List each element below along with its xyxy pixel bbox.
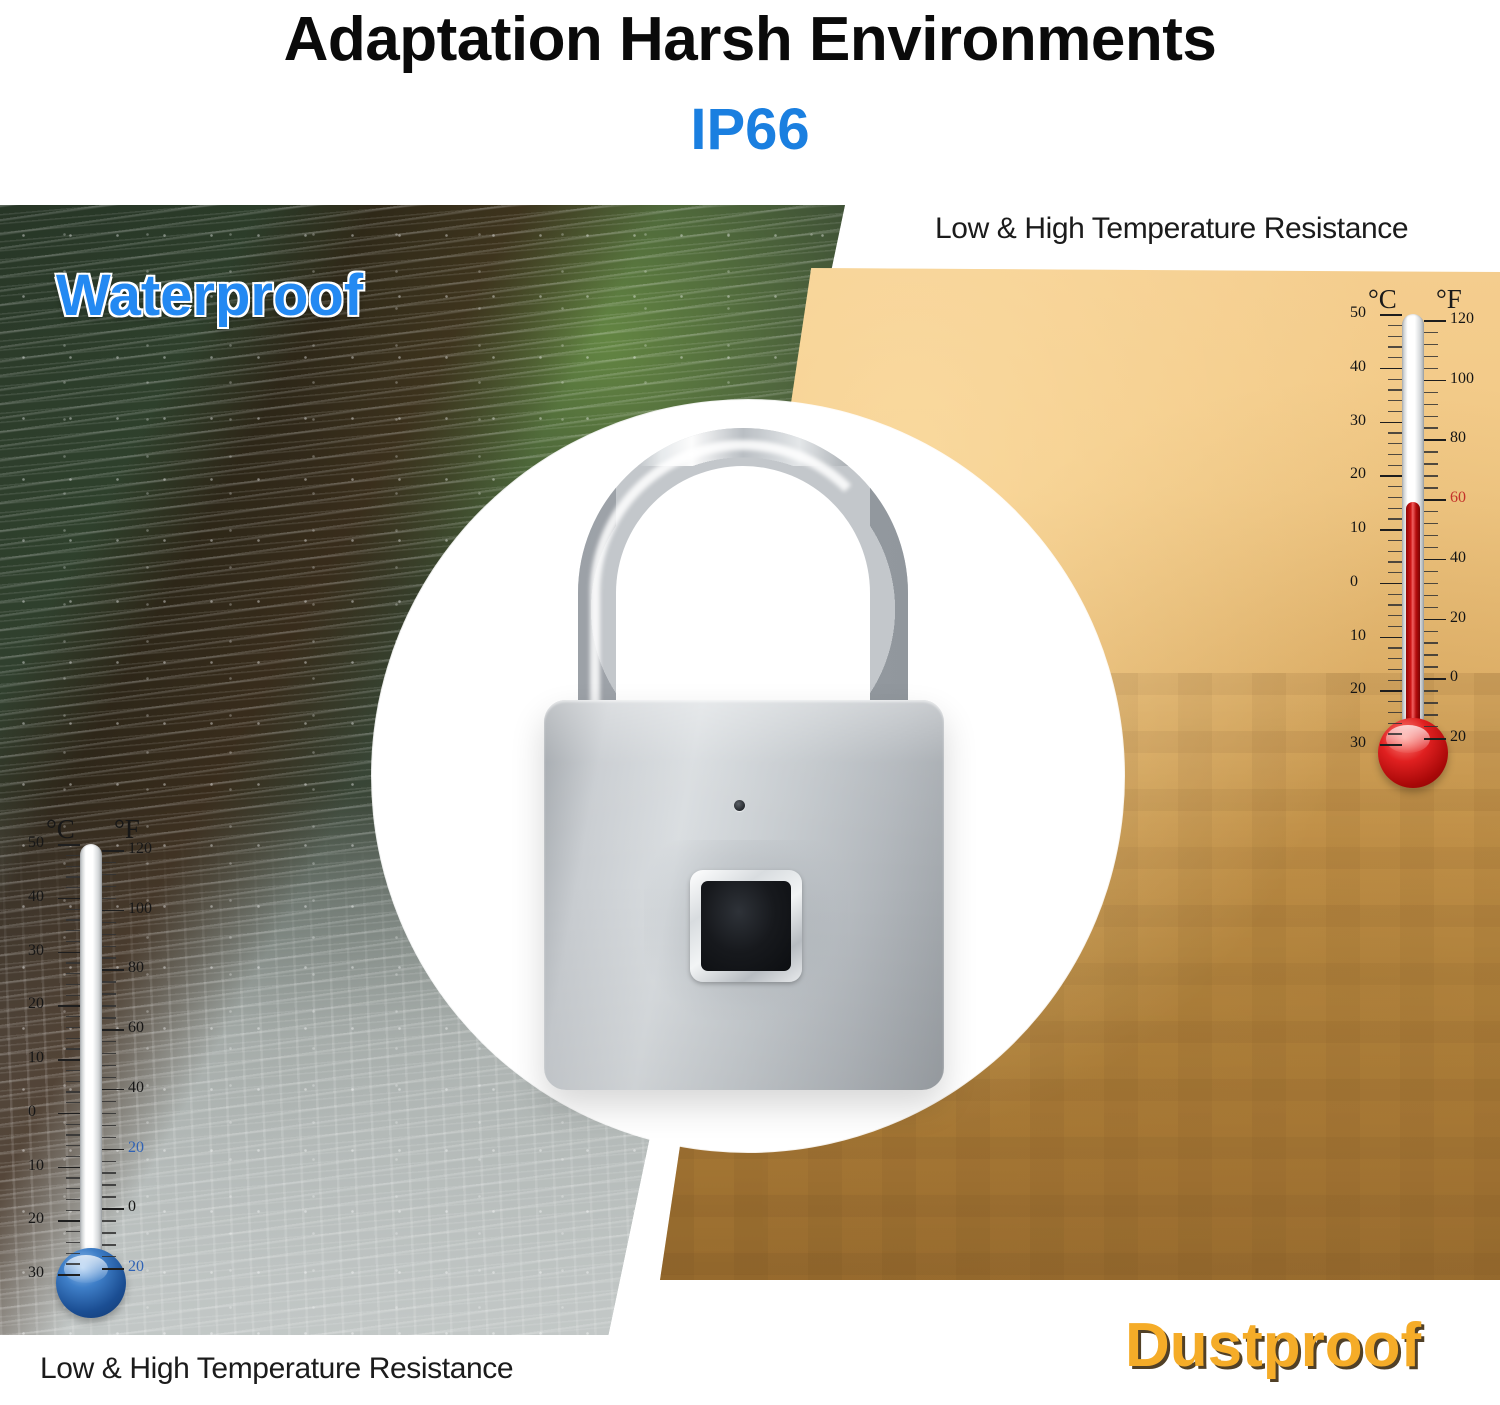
fahrenheit-tick-label: 40 <box>1450 549 1466 567</box>
celsius-tick-label: 10 <box>28 1157 44 1175</box>
celsius-minor-tick <box>1388 572 1402 573</box>
fahrenheit-minor-tick <box>1424 595 1438 596</box>
fahrenheit-major-tick <box>1424 499 1446 501</box>
celsius-tick-label: 20 <box>28 1210 44 1228</box>
celsius-minor-tick <box>1388 518 1402 519</box>
fahrenheit-major-tick <box>102 1149 124 1151</box>
fahrenheit-major-tick <box>1424 380 1446 382</box>
celsius-minor-tick <box>1388 647 1402 648</box>
celsius-minor-tick <box>1388 497 1402 498</box>
celsius-minor-tick <box>66 1188 80 1189</box>
celsius-tick-label: 10 <box>28 1049 44 1067</box>
fahrenheit-minor-tick <box>1424 666 1438 667</box>
fahrenheit-minor-tick <box>1424 535 1438 536</box>
celsius-minor-tick <box>1388 432 1402 433</box>
celsius-minor-tick <box>66 1177 80 1178</box>
fahrenheit-major-tick <box>1424 439 1446 441</box>
celsius-minor-tick <box>1388 346 1402 347</box>
fahrenheit-major-tick <box>102 1268 124 1270</box>
fahrenheit-minor-tick <box>102 898 116 899</box>
fahrenheit-minor-tick <box>1424 631 1438 632</box>
fahrenheit-major-tick <box>102 1029 124 1031</box>
fahrenheit-minor-tick <box>1424 356 1438 357</box>
celsius-major-tick <box>58 1005 80 1007</box>
celsius-minor-tick <box>66 1231 80 1232</box>
fahrenheit-minor-tick <box>1424 571 1438 572</box>
fahrenheit-minor-tick <box>102 1041 116 1042</box>
fahrenheit-minor-tick <box>102 1053 116 1054</box>
celsius-minor-tick <box>66 1102 80 1103</box>
thermometer-tube <box>80 844 102 1274</box>
fingerprint-padlock <box>372 400 1124 1160</box>
celsius-minor-tick <box>1388 626 1402 627</box>
celsius-minor-tick <box>1388 733 1402 734</box>
fahrenheit-minor-tick <box>1424 427 1438 428</box>
celsius-minor-tick <box>1388 615 1402 616</box>
fahrenheit-minor-tick <box>102 1172 116 1173</box>
fahrenheit-minor-tick <box>1424 392 1438 393</box>
celsius-minor-tick <box>66 995 80 996</box>
celsius-major-tick <box>58 1167 80 1169</box>
thermometer-bulb <box>56 1248 126 1318</box>
fahrenheit-minor-tick <box>102 1005 116 1006</box>
fahrenheit-minor-tick <box>102 1184 116 1185</box>
fahrenheit-minor-tick <box>1424 332 1438 333</box>
celsius-minor-tick <box>66 984 80 985</box>
celsius-tick-label: 50 <box>28 834 44 852</box>
fahrenheit-minor-tick <box>1424 714 1438 715</box>
fahrenheit-minor-tick <box>1424 642 1438 643</box>
header: Adaptation Harsh Environments IP66 <box>0 0 1500 200</box>
celsius-minor-tick <box>66 1156 80 1157</box>
celsius-minor-tick <box>66 1210 80 1211</box>
celsius-major-tick <box>58 898 80 900</box>
celsius-major-tick <box>1380 422 1402 424</box>
celsius-major-tick <box>1380 744 1402 746</box>
fahrenheit-minor-tick <box>1424 368 1438 369</box>
fahrenheit-minor-tick <box>1424 404 1438 405</box>
celsius-tick-label: 10 <box>1350 519 1366 537</box>
fahrenheit-tick-label: 0 <box>128 1198 136 1216</box>
fahrenheit-minor-tick <box>1424 523 1438 524</box>
fahrenheit-minor-tick <box>1424 654 1438 655</box>
fahrenheit-minor-tick <box>102 1077 116 1078</box>
celsius-minor-tick <box>66 1081 80 1082</box>
celsius-major-tick <box>1380 475 1402 477</box>
fahrenheit-minor-tick <box>102 886 116 887</box>
fahrenheit-tick-label: 100 <box>1450 370 1474 388</box>
fahrenheit-minor-tick <box>102 862 116 863</box>
celsius-minor-tick <box>66 930 80 931</box>
fahrenheit-minor-tick <box>1424 726 1438 727</box>
celsius-minor-tick <box>1388 400 1402 401</box>
celsius-minor-tick <box>1388 357 1402 358</box>
fahrenheit-minor-tick <box>1424 702 1438 703</box>
celsius-minor-tick <box>1388 551 1402 552</box>
celsius-tick-label: 30 <box>1350 412 1366 430</box>
celsius-minor-tick <box>1388 723 1402 724</box>
celsius-minor-tick <box>1388 379 1402 380</box>
celsius-minor-tick <box>1388 669 1402 670</box>
celsius-minor-tick <box>66 1145 80 1146</box>
thermometer-bulb <box>1378 718 1448 788</box>
celsius-minor-tick <box>66 1070 80 1071</box>
celsius-minor-tick <box>1388 680 1402 681</box>
celsius-tick-label: 0 <box>28 1103 36 1121</box>
celsius-minor-tick <box>1388 540 1402 541</box>
fahrenheit-minor-tick <box>102 1161 116 1162</box>
celsius-minor-tick <box>66 855 80 856</box>
celsius-major-tick <box>1380 529 1402 531</box>
fahrenheit-minor-tick <box>1424 416 1438 417</box>
fahrenheit-minor-tick <box>1424 583 1438 584</box>
thermometer-tube <box>1402 314 1424 744</box>
celsius-minor-tick <box>1388 325 1402 326</box>
fahrenheit-minor-tick <box>102 957 116 958</box>
celsius-minor-tick <box>66 1242 80 1243</box>
fahrenheit-minor-tick <box>102 1065 116 1066</box>
fahrenheit-minor-tick <box>102 1017 116 1018</box>
fahrenheit-minor-tick <box>1424 487 1438 488</box>
hot-thermometer: °C °F 5040302010010203012010080604020020 <box>1340 288 1500 798</box>
temperature-resistance-caption-bottom: Low & High Temperature Resistance <box>40 1352 513 1386</box>
celsius-minor-tick <box>1388 561 1402 562</box>
celsius-minor-tick <box>66 1124 80 1125</box>
celsius-major-tick <box>1380 368 1402 370</box>
fahrenheit-tick-label: 80 <box>1450 429 1466 447</box>
fahrenheit-tick-label: 120 <box>1450 310 1474 328</box>
fahrenheit-tick-label: 20 <box>1450 609 1466 627</box>
fahrenheit-tick-label: 0 <box>1450 668 1458 686</box>
celsius-tick-label: 20 <box>28 995 44 1013</box>
celsius-minor-tick <box>66 1048 80 1049</box>
celsius-tick-label: 10 <box>1350 627 1366 645</box>
celsius-tick-label: 20 <box>1350 465 1366 483</box>
celsius-minor-tick <box>66 1091 80 1092</box>
celsius-tick-label: 40 <box>28 888 44 906</box>
fahrenheit-minor-tick <box>1424 344 1438 345</box>
fahrenheit-minor-tick <box>102 946 116 947</box>
celsius-tick-label: 40 <box>1350 358 1366 376</box>
celsius-minor-tick <box>66 1253 80 1254</box>
celsius-minor-tick <box>66 887 80 888</box>
celsius-minor-tick <box>1388 389 1402 390</box>
fingerprint-sensor-icon <box>701 881 791 971</box>
celsius-minor-tick <box>66 973 80 974</box>
page-title: Adaptation Harsh Environments <box>0 4 1500 75</box>
celsius-minor-tick <box>66 1016 80 1017</box>
waterproof-label: Waterproof <box>56 262 363 329</box>
fahrenheit-minor-tick <box>102 1137 116 1138</box>
fahrenheit-minor-tick <box>1424 690 1438 691</box>
celsius-major-tick <box>58 1113 80 1115</box>
fahrenheit-major-tick <box>1424 559 1446 561</box>
fahrenheit-minor-tick <box>1424 475 1438 476</box>
fahrenheit-minor-tick <box>102 993 116 994</box>
celsius-tick-label: 50 <box>1350 304 1366 322</box>
fahrenheit-minor-tick <box>102 934 116 935</box>
fahrenheit-minor-tick <box>1424 547 1438 548</box>
fahrenheit-major-tick <box>1424 619 1446 621</box>
celsius-minor-tick <box>66 1199 80 1200</box>
celsius-major-tick <box>58 844 80 846</box>
fahrenheit-major-tick <box>102 850 124 852</box>
ip-rating-badge: IP66 <box>0 96 1500 163</box>
fahrenheit-tick-label: 40 <box>128 1079 144 1097</box>
status-led-icon <box>734 800 745 811</box>
celsius-major-tick <box>58 1220 80 1222</box>
fahrenheit-major-tick <box>102 910 124 912</box>
celsius-minor-tick <box>1388 454 1402 455</box>
fahrenheit-minor-tick <box>102 1101 116 1102</box>
fahrenheit-minor-tick <box>102 874 116 875</box>
celsius-minor-tick <box>66 1134 80 1135</box>
celsius-major-tick <box>1380 314 1402 316</box>
celsius-major-tick <box>58 1274 80 1276</box>
celsius-minor-tick <box>1388 443 1402 444</box>
fahrenheit-minor-tick <box>1424 463 1438 464</box>
celsius-major-tick <box>58 952 80 954</box>
fahrenheit-minor-tick <box>102 922 116 923</box>
celsius-minor-tick <box>1388 712 1402 713</box>
celsius-major-tick <box>1380 690 1402 692</box>
fahrenheit-tick-label: 60 <box>1450 489 1466 507</box>
fahrenheit-minor-tick <box>102 981 116 982</box>
fahrenheit-major-tick <box>1424 738 1446 740</box>
fahrenheit-major-tick <box>102 1208 124 1210</box>
celsius-minor-tick <box>66 962 80 963</box>
fahrenheit-major-tick <box>1424 320 1446 322</box>
celsius-minor-tick <box>66 941 80 942</box>
celsius-minor-tick <box>66 876 80 877</box>
fahrenheit-tick-label: 20 <box>128 1258 144 1276</box>
fahrenheit-minor-tick <box>102 1220 116 1221</box>
cold-thermometer: °C °F 5040302010010203012010080604020020 <box>18 818 178 1328</box>
celsius-tick-label: 20 <box>1350 680 1366 698</box>
celsius-minor-tick <box>66 1038 80 1039</box>
celsius-major-tick <box>1380 583 1402 585</box>
fahrenheit-minor-tick <box>102 1256 116 1257</box>
fahrenheit-minor-tick <box>1424 607 1438 608</box>
celsius-tick-label: 30 <box>1350 734 1366 752</box>
fahrenheit-tick-label: 120 <box>128 840 152 858</box>
celsius-minor-tick <box>1388 486 1402 487</box>
celsius-minor-tick <box>1388 508 1402 509</box>
celsius-tick-label: 0 <box>1350 573 1358 591</box>
celsius-minor-tick <box>66 1263 80 1264</box>
celsius-minor-tick <box>1388 604 1402 605</box>
fahrenheit-tick-label: 20 <box>1450 728 1466 746</box>
celsius-minor-tick <box>1388 465 1402 466</box>
fahrenheit-minor-tick <box>1424 451 1438 452</box>
temperature-resistance-caption-top: Low & High Temperature Resistance <box>935 212 1408 246</box>
fahrenheit-major-tick <box>102 969 124 971</box>
fahrenheit-minor-tick <box>102 1125 116 1126</box>
celsius-minor-tick <box>66 1027 80 1028</box>
celsius-minor-tick <box>66 919 80 920</box>
celsius-minor-tick <box>1388 336 1402 337</box>
celsius-tick-label: 30 <box>28 942 44 960</box>
celsius-minor-tick <box>66 866 80 867</box>
celsius-unit-label: °C <box>46 814 75 845</box>
celsius-major-tick <box>1380 637 1402 639</box>
fahrenheit-minor-tick <box>102 1232 116 1233</box>
celsius-minor-tick <box>1388 411 1402 412</box>
celsius-unit-label: °C <box>1368 284 1397 315</box>
fahrenheit-tick-label: 80 <box>128 959 144 977</box>
fahrenheit-tick-label: 100 <box>128 900 152 918</box>
mercury-fill <box>1406 502 1420 744</box>
fahrenheit-tick-label: 20 <box>128 1139 144 1157</box>
fahrenheit-minor-tick <box>102 1113 116 1114</box>
celsius-tick-label: 30 <box>28 1264 44 1282</box>
fahrenheit-tick-label: 60 <box>128 1019 144 1037</box>
fahrenheit-major-tick <box>1424 678 1446 680</box>
celsius-minor-tick <box>1388 701 1402 702</box>
celsius-major-tick <box>58 1059 80 1061</box>
dustproof-label: Dustproof <box>1125 1310 1421 1381</box>
celsius-minor-tick <box>66 909 80 910</box>
fahrenheit-major-tick <box>102 1089 124 1091</box>
fahrenheit-minor-tick <box>1424 511 1438 512</box>
celsius-minor-tick <box>1388 594 1402 595</box>
fahrenheit-minor-tick <box>102 1196 116 1197</box>
celsius-minor-tick <box>1388 658 1402 659</box>
fahrenheit-minor-tick <box>102 1244 116 1245</box>
